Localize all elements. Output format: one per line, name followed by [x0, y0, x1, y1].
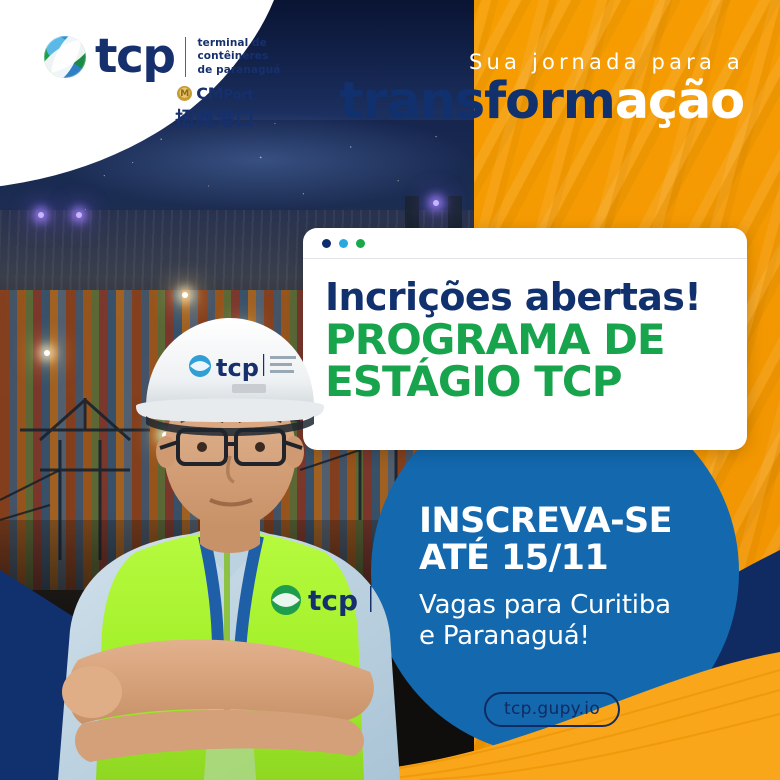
photo-light [182, 292, 188, 298]
intern-portrait: tcp [18, 300, 438, 780]
cmport-wordmark-row: CMPort [177, 84, 253, 103]
tcp-wordmark: tcp [95, 37, 174, 76]
svg-text:tcp: tcp [308, 584, 358, 617]
hand [62, 666, 122, 718]
campaign-headline: Sua jornada para a transformação [339, 50, 744, 127]
headline-kicker: Sua jornada para a [339, 50, 744, 74]
cta-block: INSCREVA-SE ATÉ 15/11 Vagas para Curitib… [419, 503, 709, 653]
tcp-logo: tcp terminal de contêineres de paranaguá [44, 36, 280, 78]
tagline-line-3: de paranaguá [197, 64, 280, 77]
window-dot-navy-icon [322, 239, 331, 248]
photo-light-violet [76, 212, 82, 218]
card-window-bar [303, 228, 747, 259]
photo-light-violet [38, 212, 44, 218]
tagline-line-2: contêineres [197, 50, 280, 63]
cta-locations: Vagas para Curitiba e Paranaguá! [419, 590, 709, 652]
svg-text:tcp: tcp [216, 354, 259, 382]
cmport-wordmark: CMPort [196, 84, 253, 103]
cta-deadline: INSCREVA-SE ATÉ 15/11 [419, 503, 709, 577]
cta-deadline-line1: INSCREVA-SE [419, 503, 709, 540]
tagline-line-1: terminal de [197, 37, 280, 50]
headline-main-part2: ação [615, 72, 744, 131]
photo-light-violet [433, 200, 439, 206]
tcp-globe-icon [44, 36, 86, 78]
window-dot-green-icon [356, 239, 365, 248]
cta-locations-line2: e Paranaguá! [419, 621, 709, 652]
cmport-cm: CM [196, 84, 223, 103]
window-dot-blue-icon [339, 239, 348, 248]
application-link-pill[interactable]: tcp.gupy.io [484, 692, 620, 727]
cta-locations-line1: Vagas para Curitiba [419, 590, 709, 621]
cmport-logo: CMPort 招商港口 [150, 84, 280, 131]
logo-divider [185, 37, 186, 77]
poster-canvas: tcp terminal de contêineres de paranaguá… [0, 0, 780, 780]
cmport-emblem-icon [177, 86, 192, 101]
cta-deadline-line2: ATÉ 15/11 [419, 540, 709, 577]
cmport-chinese-name: 招商港口 [175, 104, 255, 131]
brand-lockup: tcp terminal de contêineres de paranaguá… [44, 36, 280, 131]
headline-main: transformação [339, 76, 744, 127]
tcp-tagline: terminal de contêineres de paranaguá [197, 37, 280, 77]
headline-main-part1: transform [339, 72, 614, 131]
vest-tcp-logo: tcp [271, 584, 372, 617]
cmport-port: Port [223, 88, 253, 103]
